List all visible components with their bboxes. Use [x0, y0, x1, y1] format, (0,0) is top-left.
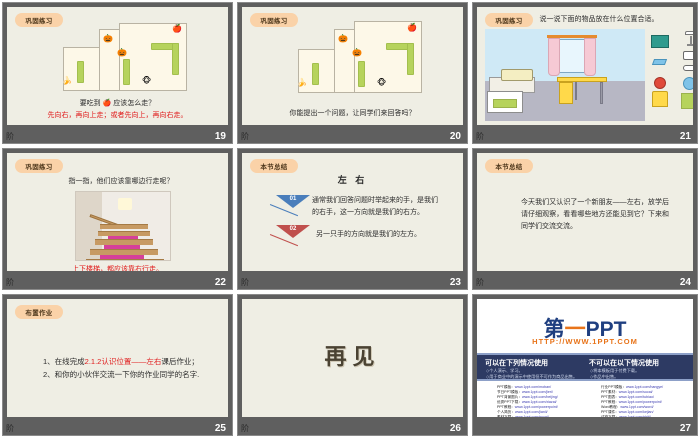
maze-item-monkey: 🐵	[142, 77, 151, 85]
desk-drawers	[559, 82, 573, 104]
corner-glyph: 阶	[241, 279, 249, 287]
banner-number: 02	[276, 226, 310, 232]
slide-thumbnail-26[interactable]: 再见 阶 26	[235, 292, 470, 438]
question-text: 你能提出一个问题，让同学们来回答吗？	[242, 109, 463, 119]
page-number: 25	[215, 423, 226, 434]
maze-item-banana: 🍌	[297, 79, 307, 87]
summary-paragraph: 今天我们又认识了一个新朋友——左右，放学后请仔细观察，看看哪些地方还能见到它？下…	[521, 197, 669, 233]
link-label: PPT图表：	[601, 395, 619, 399]
link-url[interactable]: www.1ppt.com/moban/	[515, 385, 551, 389]
slide-canvas: 巩固练习 说一说下面的物品放在什么位置合适。	[477, 7, 693, 125]
link-label: PPT教程：	[497, 405, 515, 409]
section-badge: 布置作业	[15, 305, 63, 319]
slide-thumbnail-19[interactable]: 巩固练习 🍌 🎃 🎃 🐵 🍎 要吃到 🍎 应该怎么走？	[0, 0, 235, 146]
page-number: 19	[215, 131, 226, 142]
homework-item-1: 1、在线完成2.1.2认识位置——左右课后作业；	[43, 355, 199, 368]
corner-glyph: 阶	[476, 279, 484, 287]
corner-glyph: 阶	[241, 133, 249, 141]
curtain-left	[548, 38, 560, 76]
photo-light	[118, 198, 132, 210]
page-number: 22	[215, 277, 226, 288]
slide-footer: 阶 20	[238, 125, 467, 143]
maze-wall-2	[123, 59, 130, 85]
slide-canvas: 巩固练习 🍌 🎃 🎃 🐵 🍎 要吃到 🍎 应该怎么走？	[7, 7, 228, 125]
point-banner-01: 01	[276, 195, 310, 213]
slide-canvas: 本节总结 左 右 01 通常我们回答问题时举起来的手，是我们的右手，这一方向就是…	[242, 153, 463, 271]
slide-frame: 布置作业 1、在线完成2.1.2认识位置——左右课后作业； 2、和你的小伙伴交流…	[2, 294, 233, 436]
slide-canvas: 第一PPT HTTP://WWW.1PPT.COM 可以在下列情况使用 ◇个人演…	[477, 299, 693, 417]
slide-footer: 阶 23	[238, 271, 467, 289]
slide-footer: 阶 22	[3, 271, 232, 289]
slide-frame: 本节总结 左 右 01 通常我们回答问题时举起来的手，是我们的右手，这一方向就是…	[237, 148, 468, 290]
bed-panel	[493, 99, 517, 108]
farewell-text: 再见	[242, 339, 463, 371]
corner-glyph: 阶	[6, 133, 14, 141]
link-label: PPT素材：	[601, 390, 619, 394]
slide-grid: 巩固练习 🍌 🎃 🎃 🐵 🍎 要吃到 🍎 应该怎么走？	[0, 0, 700, 438]
slide-footer: 阶 25	[3, 417, 232, 435]
slide-canvas: 布置作业 1、在线完成2.1.2认识位置——左右课后作业； 2、和你的小伙伴交流…	[7, 299, 228, 417]
maze-wall-4	[172, 43, 179, 75]
link-column-right: 行业PPT模板：www.1ppt.com/hangye/ PPT素材：www.1…	[601, 385, 693, 417]
slide-footer: 阶 21	[473, 125, 697, 143]
slide-canvas: 巩固练习 🍌 🎃 🎃 🐵 🍎 你能提出一个问题，让同学们来回答吗？	[242, 7, 463, 125]
pillow-icon[interactable]	[683, 51, 693, 60]
homework-prefix: 1、在线完成	[43, 357, 85, 366]
slide-canvas: 巩固练习 指一指，他们应该靠哪边行走呢？ 上下楼梯，都应该靠右行走。	[7, 153, 228, 271]
link-url[interactable]: www.1ppt.com/jianli/	[515, 410, 548, 414]
homework-item-2: 2、和你的小伙伴交流一下你的作业同学的名字.	[43, 368, 199, 381]
page-number: 23	[450, 277, 461, 288]
slide-frame: 再见 阶 26	[237, 294, 468, 436]
corner-glyph: 阶	[6, 425, 14, 433]
slide-canvas: 再见	[242, 299, 463, 417]
slide-frame: 本节总结 今天我们又认识了一个新朋友——左右，放学后请仔细观察，看看哪些地方还能…	[472, 148, 698, 290]
slide-footer: 阶 19	[3, 125, 232, 143]
slide-thumbnail-21[interactable]: 巩固练习 说一说下面的物品放在什么位置合适。	[470, 0, 700, 146]
page-number: 26	[450, 423, 461, 434]
maze-item-monkey: 🐵	[377, 79, 386, 87]
maze-wall-1	[77, 61, 84, 83]
maze-item-apple: 🍎	[172, 25, 182, 33]
link-label: PPT背景图片：	[497, 395, 522, 399]
homework-suffix: 课后作业；	[161, 357, 199, 366]
link-label: 节日PPT模板：	[497, 390, 522, 394]
slide-frame: 第一PPT HTTP://WWW.1PPT.COM 可以在下列情况使用 ◇个人演…	[472, 294, 698, 436]
maze-wall-4	[407, 43, 414, 75]
towel-icon[interactable]	[652, 59, 667, 65]
maze-wall-1	[312, 63, 319, 85]
link-url[interactable]: www.1ppt.com/hangye/	[626, 385, 663, 389]
slide-thumbnail-22[interactable]: 巩固练习 指一指，他们应该靠哪边行走呢？ 上下楼梯，都应该靠右行走。	[0, 146, 235, 292]
banner-number: 01	[276, 196, 310, 202]
page-number: 24	[680, 277, 691, 288]
link-label: PPT课件：	[601, 410, 619, 414]
question-text: 说一说下面的物品放在什么位置合适。	[529, 15, 669, 25]
staircase-photo	[75, 191, 171, 261]
slide-footer: 27	[473, 417, 697, 435]
section-badge: 巩固练习	[250, 13, 298, 27]
alarm-clock-icon[interactable]	[654, 77, 666, 89]
terms-band: 可以在下列情况使用 ◇个人演示、学习。 ◇用于商业中的演示中使用但不可作为商品出…	[477, 353, 693, 381]
maze-wall-2	[358, 61, 365, 87]
link-url[interactable]: www.1ppt.com/kejian/	[619, 410, 654, 414]
allow-item-2: ◇用于商业中的演示中使用但不可作为商品出售。	[486, 374, 577, 380]
slide-thumbnail-20[interactable]: 巩固练习 🍌 🎃 🎃 🐵 🍎 你能提出一个问题，让同学们来回答吗？	[235, 0, 470, 146]
page-number: 21	[680, 131, 691, 142]
maze-diagram: 🍌 🎃 🎃 🐵 🍎	[294, 17, 426, 95]
allow-heading: 可以在下列情况使用	[485, 358, 548, 368]
link-url[interactable]: www.1ppt.com/sucai/	[619, 390, 653, 394]
question-text: 指一指，他们应该靠哪边行走呢？	[31, 177, 211, 187]
corner-glyph: 阶	[6, 279, 14, 287]
link-url[interactable]: www.1ppt.com/tubiao/	[619, 395, 654, 399]
brand-url[interactable]: HTTP://WWW.1PPT.COM	[477, 337, 693, 346]
slide-footer: 阶 26	[238, 417, 467, 435]
maze-item-apple: 🍎	[407, 24, 417, 32]
beach-ball-icon[interactable]	[683, 77, 693, 90]
section-badge: 巩固练习	[15, 159, 63, 173]
slide-thumbnail-25[interactable]: 布置作业 1、在线完成2.1.2认识位置——左右课后作业； 2、和你的小伙伴交流…	[0, 292, 235, 438]
maze-item-pumpkin-top: 🎃	[103, 35, 113, 43]
desk-leg-back	[575, 82, 577, 100]
section-badge: 巩固练习	[15, 13, 63, 27]
page-number: 27	[680, 423, 691, 434]
slide-thumbnail-24[interactable]: 本节总结 今天我们又认识了一个新朋友——左右，放学后请仔细观察，看看哪些地方还能…	[470, 146, 700, 292]
slide-footer: 阶 24	[473, 271, 697, 289]
point-text-01: 通常我们回答问题时举起来的手，是我们的右手，这一方向就是我们的右方。	[312, 195, 440, 219]
window	[559, 39, 585, 73]
maze-item-banana: 🍌	[62, 77, 72, 85]
bedroom-scene	[485, 29, 645, 121]
link-label: 优秀PPT下载：	[497, 400, 522, 404]
curtain-right	[584, 38, 596, 76]
section-badge: 本节总结	[250, 159, 298, 173]
cabinet-icon[interactable]	[681, 93, 693, 109]
answer-text: 先向右，再向上走；或者先向上，再向右走。	[7, 111, 228, 121]
slide-canvas: 本节总结 今天我们又认识了一个新朋友——左右，放学后请仔细观察，看看哪些地方还能…	[477, 153, 693, 271]
desk-leg-right	[600, 82, 603, 104]
maze-diagram: 🍌 🎃 🎃 🐵 🍎	[59, 21, 191, 93]
photo-step	[100, 224, 148, 229]
bed-quilt	[501, 69, 533, 81]
slide-frame: 巩固练习 🍌 🎃 🎃 🐵 🍎 你能提出一个问题，让同学们来回答吗？	[237, 2, 468, 144]
slide-frame: 巩固练习 指一指，他们应该靠哪边行走呢？ 上下楼梯，都应该靠右行走。	[2, 148, 233, 290]
lamp-icon[interactable]	[683, 31, 693, 47]
link-label: PPT教程：	[601, 400, 619, 404]
page-number: 20	[450, 131, 461, 142]
corner-glyph: 阶	[476, 133, 484, 141]
chair-icon[interactable]	[652, 91, 668, 107]
link-url[interactable]: www.1ppt.com/beijing/	[522, 395, 558, 399]
point-banner-02: 02	[276, 225, 310, 243]
maze-item-pumpkin-top: 🎃	[338, 35, 348, 43]
corner-glyph: 阶	[241, 425, 249, 433]
link-column-left: PPT模板：www.1ppt.com/moban/ 节日PPT模板：www.1p…	[497, 385, 593, 417]
section-badge: 巩固练习	[485, 13, 533, 27]
homework-highlight: 2.1.2认识位置——左右	[85, 357, 162, 366]
slide-title: 左 右	[242, 173, 463, 186]
point-text-02: 另一只手的方向就是我们的左方。	[316, 229, 444, 241]
deny-item-2: ◇作品中出售。	[590, 374, 618, 380]
question-text: 要吃到 🍎 应该怎么走？	[7, 99, 228, 109]
section-badge: 本节总结	[485, 159, 533, 173]
link-label: Word教程：	[601, 405, 620, 409]
link-url[interactable]: www.1ppt.com/powerpoint/	[619, 400, 662, 404]
slide-thumbnail-27[interactable]: 第一PPT HTTP://WWW.1PPT.COM 可以在下列情况使用 ◇个人演…	[470, 292, 700, 438]
slipper-icon[interactable]	[683, 65, 693, 71]
link-label: 行业PPT模板：	[601, 385, 626, 389]
slide-frame: 巩固练习 🍌 🎃 🎃 🐵 🍎 要吃到 🍎 应该怎么走？	[2, 2, 233, 144]
object-palette	[649, 29, 693, 121]
homework-prefix: 2、和你的小伙伴交流一下你的作业同学的名字.	[43, 370, 199, 379]
slide-frame: 巩固练习 说一说下面的物品放在什么位置合适。	[472, 2, 698, 144]
deny-heading: 不可以在以下情况使用	[589, 358, 659, 368]
maze-item-pumpkin-mid: 🎃	[117, 49, 127, 57]
link-label: 个人简历：	[497, 410, 515, 414]
link-url[interactable]: www.1ppt.com/jieri/	[522, 390, 553, 394]
link-url[interactable]: www.1ppt.com/xiazai/	[522, 400, 557, 404]
photo-step	[86, 259, 164, 261]
link-url[interactable]: www.1ppt.com/word/	[620, 405, 653, 409]
picture-frame-icon[interactable]	[651, 35, 669, 48]
link-url[interactable]: www.1ppt.com/powerpoint/	[515, 405, 558, 409]
link-label: PPT模板：	[497, 385, 515, 389]
slide-thumbnail-23[interactable]: 本节总结 左 右 01 通常我们回答问题时举起来的手，是我们的右手，这一方向就是…	[235, 146, 470, 292]
maze-item-pumpkin-mid: 🎃	[352, 49, 362, 57]
